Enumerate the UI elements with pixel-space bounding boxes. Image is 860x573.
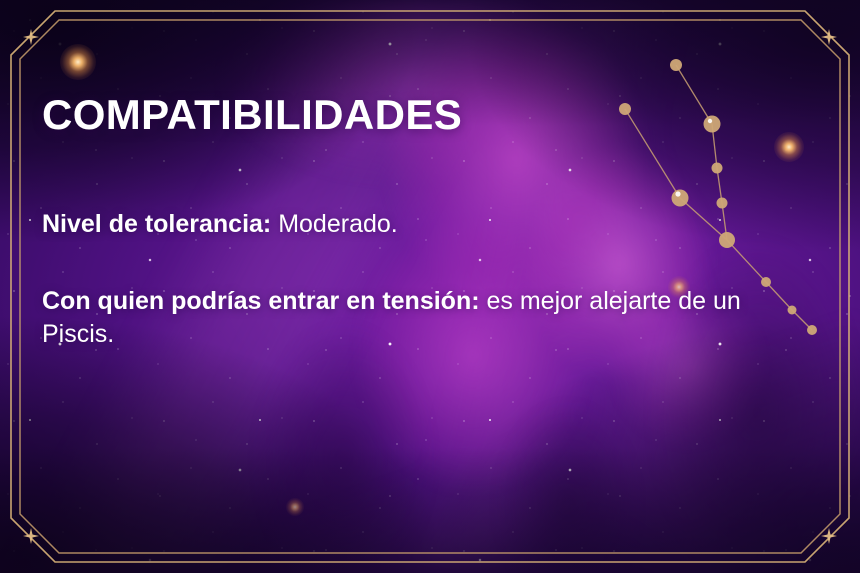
tolerance-paragraph: Nivel de tolerancia: Moderado. <box>42 208 682 241</box>
tolerance-value: Moderado. <box>278 210 398 238</box>
horoscope-compatibility-card: COMPATIBILIDADES Nivel de tolerancia: Mo… <box>0 0 860 573</box>
tolerance-label: Nivel de tolerancia: <box>42 210 278 238</box>
card-text-content: COMPATIBILIDADES Nivel de tolerancia: Mo… <box>42 0 800 573</box>
tension-label: Con quien podrías entrar en tensión: <box>42 287 486 315</box>
tension-paragraph: Con quien podrías entrar en tensión: es … <box>42 285 782 351</box>
page-title: COMPATIBILIDADES <box>42 94 462 136</box>
